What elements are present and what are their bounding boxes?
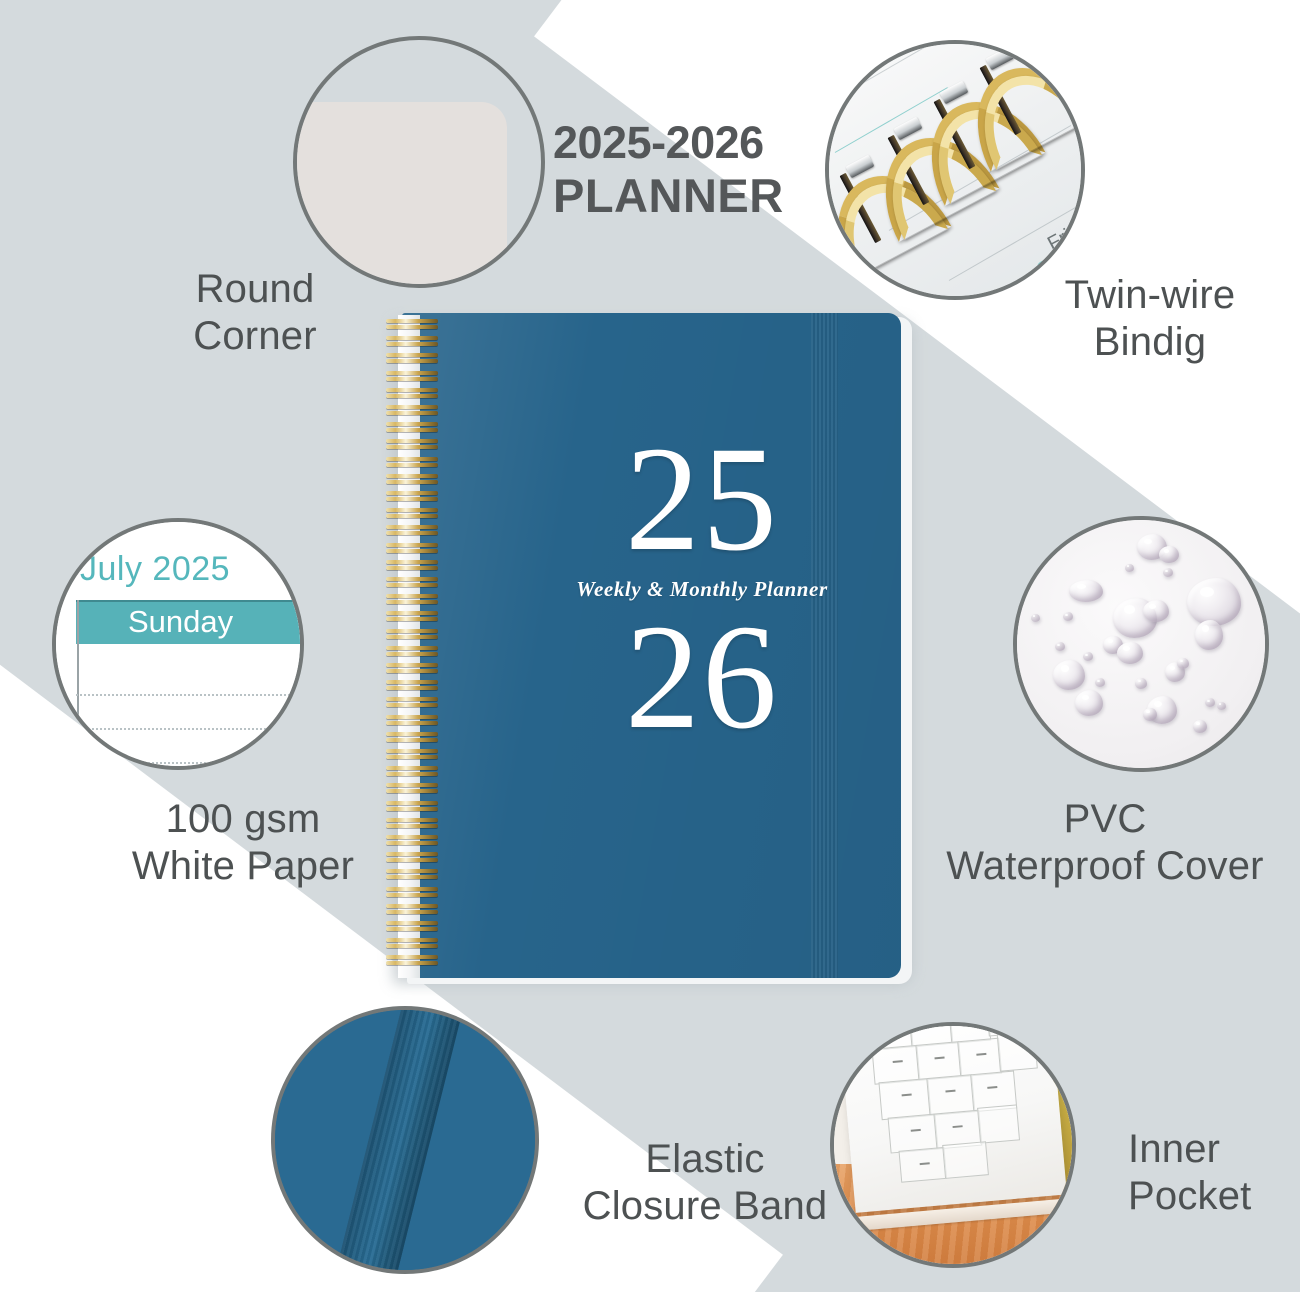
spiral-coil <box>386 732 438 743</box>
twin-wire-icon: Fri 27 <box>829 44 1081 296</box>
spiral-coil <box>386 835 438 846</box>
spiral-coil <box>386 749 438 760</box>
spiral-coil <box>386 646 438 657</box>
calendar-divider-line <box>77 600 79 722</box>
elastic-band-strip <box>320 1006 475 1274</box>
spiral-coil <box>386 869 438 880</box>
feature-image-twin-wire-binding: Fri 27 <box>825 40 1085 300</box>
cover-year-bottom: 26 <box>552 606 852 749</box>
page-title-line2: PLANNER <box>553 169 853 223</box>
product-feature-infographic: 2025-2026 PLANNER Round Corner <box>0 0 1300 1292</box>
spiral-coil <box>386 577 438 588</box>
spiral-coil <box>386 353 438 364</box>
spiral-coil <box>386 457 438 468</box>
spiral-coil <box>386 594 438 605</box>
spiral-coil <box>386 680 438 691</box>
planner-product-image: 25 Weekly & Monthly Planner 26 <box>383 313 912 984</box>
calendar-month-label: July 2025 <box>80 550 230 589</box>
feature-label-paper-weight: 100 gsm White Paper <box>98 796 388 890</box>
spiral-coil <box>386 491 438 502</box>
spiral-coil <box>386 663 438 674</box>
spiral-coil <box>386 955 438 966</box>
spiral-coil <box>386 371 438 382</box>
cover-year-top: 25 <box>552 428 852 571</box>
page-title-line1: 2025-2026 <box>553 117 853 169</box>
spiral-coil <box>386 766 438 777</box>
planner-front-cover: 25 Weekly & Monthly Planner 26 <box>402 313 901 978</box>
calendar-rule-line <box>76 694 304 696</box>
spiral-coil <box>386 474 438 485</box>
feature-image-round-corner <box>293 36 545 288</box>
spiral-coil <box>386 388 438 399</box>
water-droplets-icon <box>1017 520 1265 768</box>
spiral-coil <box>386 319 438 330</box>
spiral-coil <box>386 938 438 949</box>
spiral-coil <box>386 629 438 640</box>
feature-label-elastic-closure-band: Elastic Closure Band <box>540 1136 870 1230</box>
spiral-coil <box>386 508 438 519</box>
spiral-coil <box>386 783 438 794</box>
spiral-coil <box>386 336 438 347</box>
feature-image-pvc-waterproof-cover <box>1013 516 1269 772</box>
calendar-day-label: Sunday <box>128 604 233 640</box>
spiral-coil <box>386 439 438 450</box>
inner-pocket-icon: V <box>834 1026 1072 1264</box>
elastic-band-icon <box>275 1010 535 1270</box>
spiral-coil <box>386 560 438 571</box>
spiral-coil <box>386 921 438 932</box>
calendar-rule-line <box>76 762 304 764</box>
spiral-coil <box>386 611 438 622</box>
feature-image-inner-pocket: V <box>830 1022 1076 1268</box>
spiral-coil <box>386 422 438 433</box>
spiral-coil <box>386 715 438 726</box>
feature-label-inner-pocket: Inner Pocket <box>1128 1126 1300 1220</box>
feature-image-paper-weight: July 2025 Sunday <box>52 518 304 770</box>
spiral-coil <box>386 887 438 898</box>
rounded-corner-icon <box>293 102 507 288</box>
feature-label-twin-wire-binding: Twin-wire Bindig <box>1010 272 1290 366</box>
spiral-coil <box>386 904 438 915</box>
spiral-coil <box>386 405 438 416</box>
feature-label-round-corner: Round Corner <box>120 266 390 360</box>
cover-typography: 25 Weekly & Monthly Planner 26 <box>552 428 852 748</box>
page-title: 2025-2026 PLANNER <box>553 117 853 223</box>
calendar-rule-line <box>76 728 304 730</box>
spiral-coil <box>386 801 438 812</box>
spiral-coil <box>386 818 438 829</box>
spiral-coil <box>386 697 438 708</box>
spiral-coil <box>386 852 438 863</box>
calendar-page-icon: July 2025 Sunday <box>56 522 300 766</box>
feature-label-pvc-waterproof-cover: PVC Waterproof Cover <box>910 796 1300 890</box>
spiral-coil <box>386 543 438 554</box>
feature-image-elastic-closure-band <box>271 1006 539 1274</box>
twin-wire-spiral-binding <box>383 319 441 974</box>
map-page <box>837 1022 1067 1213</box>
spiral-coil <box>386 525 438 536</box>
